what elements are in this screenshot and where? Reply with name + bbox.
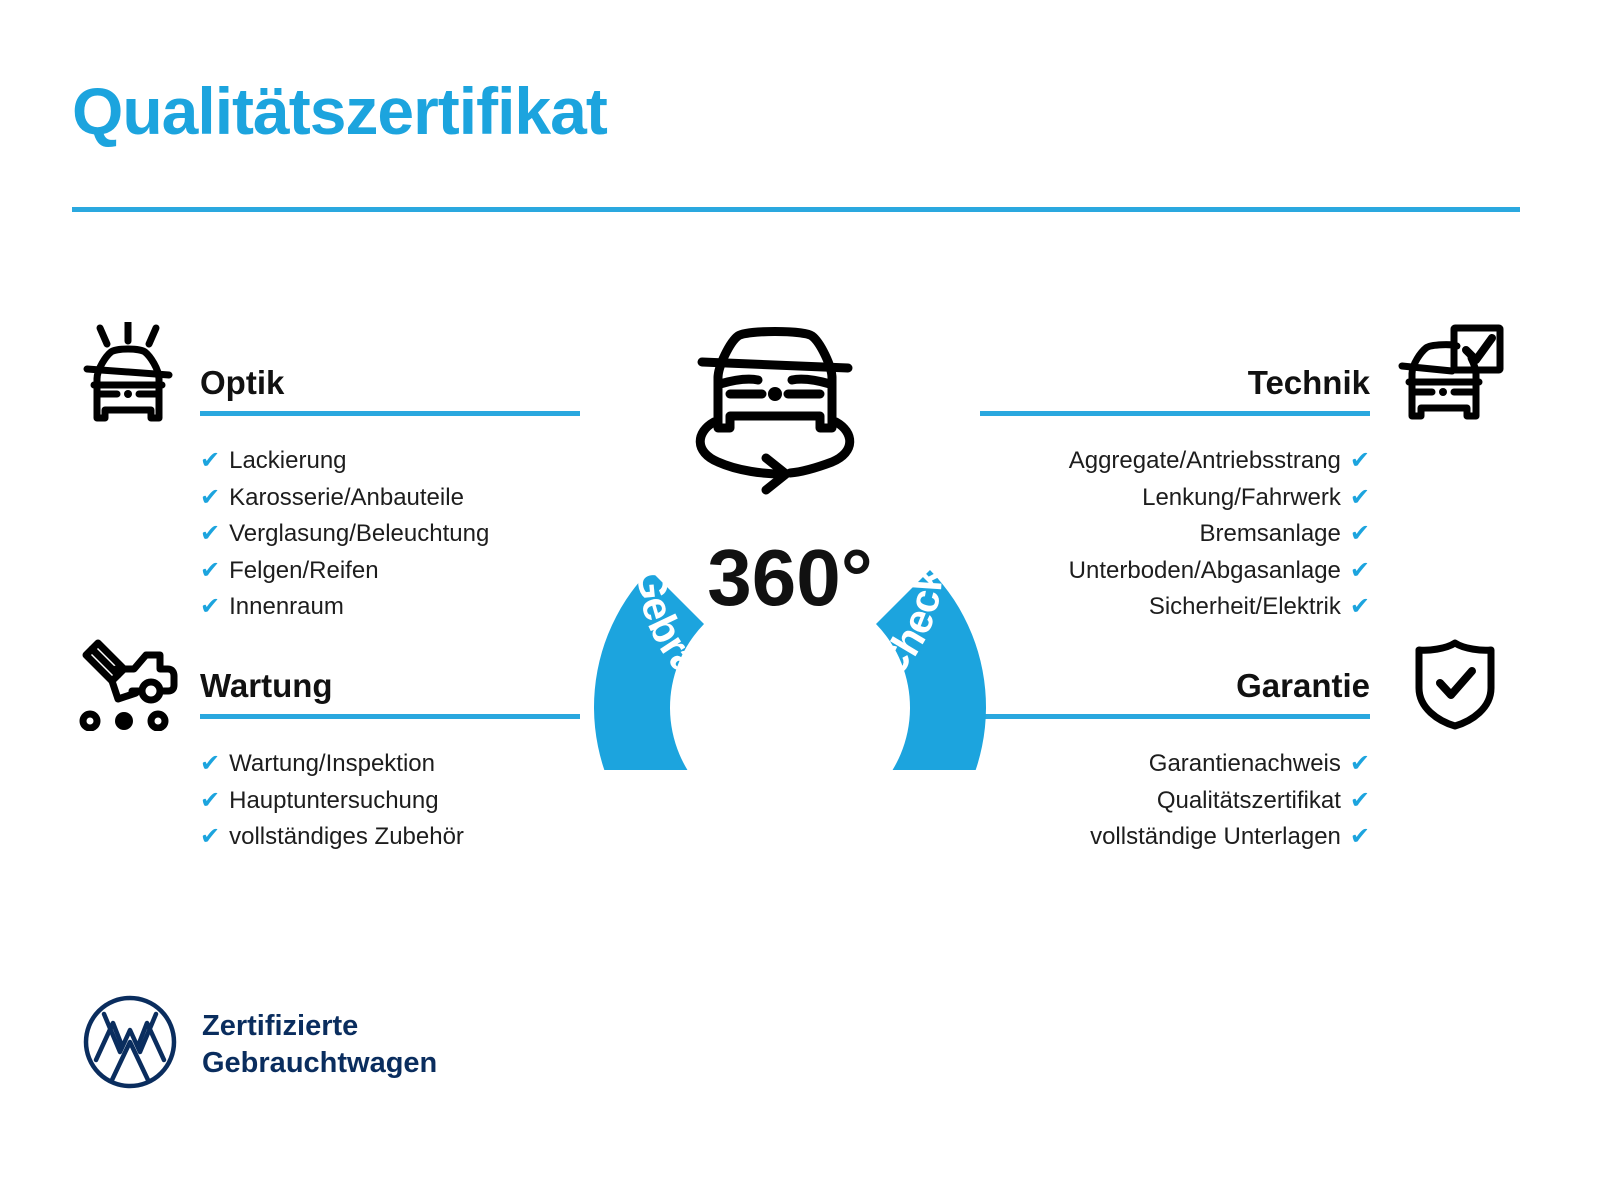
- list-item-label: vollständiges Zubehör: [229, 819, 464, 856]
- car-checkbox-icon: [1396, 324, 1506, 429]
- section-optik: Optik ✔ Lackierung ✔ Karosserie/Anbautei…: [200, 361, 580, 626]
- pencil-car-service-icon: [72, 633, 182, 736]
- list-item: ✔ Innenraum: [200, 589, 580, 626]
- check-icon: ✔: [1350, 589, 1370, 626]
- list-item: Unterboden/Abgasanlage ✔: [980, 553, 1370, 590]
- list-item-label: Aggregate/Antriebsstrang: [1069, 443, 1341, 480]
- checklist-garantie: Garantienachweis ✔ Qualitätszertifikat ✔…: [980, 746, 1370, 856]
- list-item-label: Karosserie/Anbauteile: [229, 480, 464, 517]
- list-item: Aggregate/Antriebsstrang ✔: [980, 443, 1370, 480]
- check-icon: ✔: [1350, 480, 1370, 517]
- certificate-page: Qualitätszertifikat Optik ✔ Lackierung: [0, 0, 1600, 1200]
- volkswagen-logo: [82, 994, 178, 1095]
- list-item-label: Lackierung: [229, 443, 346, 480]
- list-item: ✔ Wartung/Inspektion: [200, 746, 580, 783]
- checklist-optik: ✔ Lackierung ✔ Karosserie/Anbauteile ✔ V…: [200, 443, 580, 626]
- check-icon: ✔: [1350, 783, 1370, 820]
- check-icon: ✔: [1350, 443, 1370, 480]
- footer-brand: Zertifizierte Gebrauchtwagen: [82, 994, 437, 1095]
- list-item: ✔ Verglasung/Beleuchtung: [200, 516, 580, 553]
- section-header: Technik: [980, 361, 1370, 427]
- list-item: ✔ vollständiges Zubehör: [200, 819, 580, 856]
- list-item-label: Garantienachweis: [1149, 746, 1341, 783]
- check-icon: ✔: [1350, 553, 1370, 590]
- check-icon: ✔: [200, 783, 220, 820]
- section-technik: Technik Aggregate/Antriebsstrang ✔ Lenku…: [980, 361, 1370, 626]
- checklist-wartung: ✔ Wartung/Inspektion ✔ Hauptuntersuchung…: [200, 746, 580, 856]
- section-header: Wartung: [200, 664, 580, 730]
- section-divider: [980, 714, 1370, 719]
- section-title: Garantie: [980, 664, 1370, 708]
- list-item-label: Verglasung/Beleuchtung: [229, 516, 489, 553]
- section-divider: [200, 411, 580, 416]
- check-icon: ✔: [200, 746, 220, 783]
- section-title: Wartung: [200, 664, 580, 708]
- section-divider: [980, 411, 1370, 416]
- brand-text: Zertifizierte Gebrauchtwagen: [202, 1008, 437, 1082]
- check-icon: ✔: [200, 443, 220, 480]
- check-icon: ✔: [1350, 746, 1370, 783]
- section-title: Technik: [980, 361, 1370, 405]
- list-item: Bremsanlage ✔: [980, 516, 1370, 553]
- check-icon: ✔: [200, 480, 220, 517]
- section-title: Optik: [200, 361, 580, 405]
- list-item: ✔ Lackierung: [200, 443, 580, 480]
- badge-360-gebrauchtwagen-check: Gebrauchtwagen-Check 360°: [560, 300, 1020, 770]
- list-item-label: Hauptuntersuchung: [229, 783, 438, 820]
- section-garantie: Garantie Garantienachweis ✔ Qualitätszer…: [980, 664, 1370, 856]
- list-item-label: Sicherheit/Elektrik: [1149, 589, 1341, 626]
- check-icon: ✔: [200, 819, 220, 856]
- list-item-label: vollständige Unterlagen: [1090, 819, 1341, 856]
- list-item: ✔ Felgen/Reifen: [200, 553, 580, 590]
- car-rotate-360-icon: [700, 332, 850, 491]
- list-item-label: Lenkung/Fahrwerk: [1142, 480, 1341, 517]
- title-divider: [72, 207, 1520, 212]
- badge-value: 360°: [707, 533, 872, 622]
- check-icon: ✔: [1350, 819, 1370, 856]
- check-icon: ✔: [1350, 516, 1370, 553]
- list-item: Qualitätszertifikat ✔: [980, 783, 1370, 820]
- list-item-label: Qualitätszertifikat: [1157, 783, 1341, 820]
- list-item: Sicherheit/Elektrik ✔: [980, 589, 1370, 626]
- checklist-technik: Aggregate/Antriebsstrang ✔ Lenkung/Fahrw…: [980, 443, 1370, 626]
- section-header: Garantie: [980, 664, 1370, 730]
- list-item: Lenkung/Fahrwerk ✔: [980, 480, 1370, 517]
- check-icon: ✔: [200, 553, 220, 590]
- section-wartung: Wartung ✔ Wartung/Inspektion ✔ Hauptunte…: [200, 664, 580, 856]
- page-title: Qualitätszertifikat: [72, 78, 607, 144]
- list-item: ✔ Hauptuntersuchung: [200, 783, 580, 820]
- section-divider: [200, 714, 580, 719]
- list-item-label: Unterboden/Abgasanlage: [1069, 553, 1341, 590]
- check-icon: ✔: [200, 516, 220, 553]
- section-header: Optik: [200, 361, 580, 427]
- brand-line-1: Zertifizierte: [202, 1010, 358, 1042]
- list-item-label: Bremsanlage: [1199, 516, 1340, 553]
- list-item: vollständige Unterlagen ✔: [980, 819, 1370, 856]
- brand-line-2: Gebrauchtwagen: [202, 1047, 437, 1079]
- check-icon: ✔: [200, 589, 220, 626]
- shield-check-icon: [1408, 638, 1502, 735]
- list-item-label: Wartung/Inspektion: [229, 746, 435, 783]
- list-item-label: Innenraum: [229, 589, 344, 626]
- list-item: Garantienachweis ✔: [980, 746, 1370, 783]
- list-item-label: Felgen/Reifen: [229, 553, 378, 590]
- car-front-shine-icon: [72, 322, 184, 431]
- list-item: ✔ Karosserie/Anbauteile: [200, 480, 580, 517]
